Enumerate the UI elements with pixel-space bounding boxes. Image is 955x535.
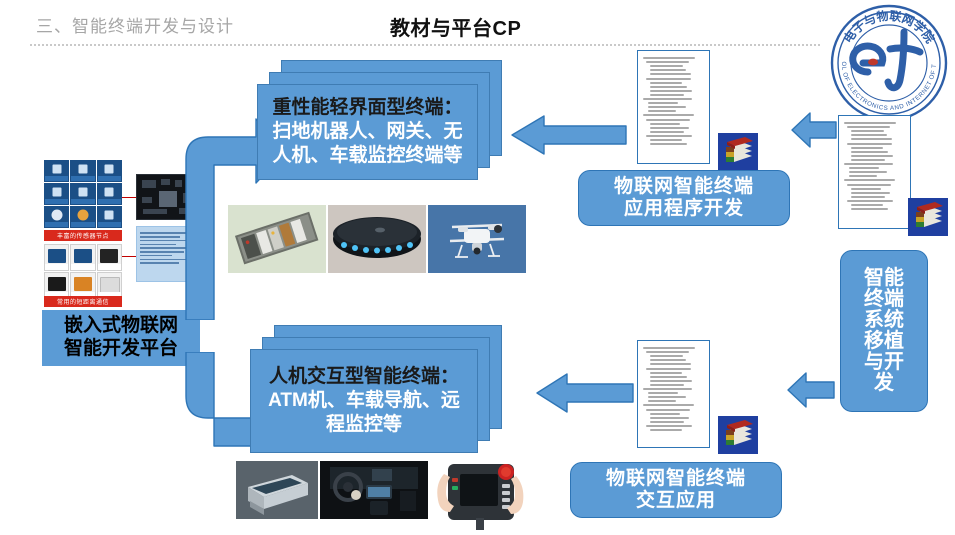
left-arrow-interact-to-bottom-card xyxy=(535,370,635,416)
sensor-tile xyxy=(44,183,69,205)
photo-car-navigation xyxy=(320,461,428,519)
document-toc-interaction xyxy=(637,340,710,448)
module-tile xyxy=(44,272,69,299)
card-body-line-1: ATM机、车载导航、远 xyxy=(268,389,460,413)
card-body-line-2: 人机、车载监控终端等 xyxy=(272,144,462,168)
photo-quadcopter-drone xyxy=(428,205,526,273)
card-body-line-1: 扫地机器人、网关、无 xyxy=(272,120,462,144)
comm-module-grid xyxy=(44,244,122,299)
module-tile xyxy=(44,244,69,271)
books-icon-interaction xyxy=(718,416,758,454)
app-dev-line-1: 物联网智能终端 xyxy=(614,176,754,198)
platform-line-2: 智能开发平台 xyxy=(64,338,178,361)
card-text: 重性能轻界面型终端： 扫地机器人、网关、无 人机、车载监控终端等 xyxy=(257,84,478,180)
embedded-iot-platform-box: 嵌入式物联网 智能开发平台 xyxy=(42,310,200,366)
module-tile xyxy=(70,244,95,271)
page-title: 教材与平台CP xyxy=(390,12,521,41)
card-body-line-2: 程监控等 xyxy=(326,413,402,437)
books-icon-app-dev xyxy=(718,133,758,171)
section-label: 三、智能终端开发与设计 xyxy=(36,12,234,37)
platform-line-1: 嵌入式物联网 xyxy=(64,315,178,338)
card-heavy-performance-terminal: 重性能轻界面型终端： 扫地机器人、网关、无 人机、车载监控终端等 xyxy=(257,60,502,180)
card-human-machine-terminal: 人机交互型智能终端： ATM机、车载导航、远 程监控等 xyxy=(250,325,502,453)
sensor-board-collage: 丰富的传感器节点 常用的短距离通信 xyxy=(44,160,122,305)
collage-caption-sensors: 丰富的传感器节点 xyxy=(44,230,122,241)
photo-atm-kiosk xyxy=(236,461,318,519)
sensor-tile xyxy=(97,183,122,205)
document-toc-app-dev xyxy=(637,50,710,164)
module-tile xyxy=(97,244,122,271)
module-tile xyxy=(70,272,95,299)
left-arrow-portdev-to-appdev xyxy=(790,110,838,150)
slide-canvas: 三、智能终端开发与设计 教材与平台CP 电子与物联网学院 SCHOOL OF E… xyxy=(0,0,955,535)
header-divider xyxy=(30,44,820,46)
card-title: 人机交互型智能终端： xyxy=(269,365,459,389)
sensor-tile xyxy=(70,160,95,182)
sensor-tile xyxy=(97,206,122,228)
sensor-tile xyxy=(70,206,95,228)
school-logo: 电子与物联网学院 SCHOOL OF ELECTRONICS AND INTER… xyxy=(828,2,950,124)
collage-caption-comm: 常用的短距离通信 xyxy=(44,296,122,307)
module-tile xyxy=(97,272,122,299)
logo-english-text: SCHOOL OF ELECTRONICS AND INTERNET OF TH… xyxy=(950,2,951,3)
photo-handheld-teach-pendant xyxy=(430,456,530,530)
left-arrow-appdev-to-top-card xyxy=(510,112,628,158)
interact-app-line-2: 交互应用 xyxy=(606,490,746,512)
card-text: 人机交互型智能终端： ATM机、车载导航、远 程监控等 xyxy=(250,349,478,453)
sensor-node-grid xyxy=(44,160,122,228)
label-terminal-system-porting-development: 智能 终端 系统 移植 与开 发 xyxy=(840,250,928,412)
label-iot-terminal-interaction-app: 物联网智能终端 交互应用 xyxy=(570,462,782,518)
sensor-tile xyxy=(70,183,95,205)
label-iot-terminal-app-development: 物联网智能终端 应用程序开发 xyxy=(578,170,790,226)
document-toc-port-dev xyxy=(838,115,911,229)
photo-robot-vacuum xyxy=(328,205,426,273)
app-dev-line-2: 应用程序开发 xyxy=(614,198,754,220)
interact-app-line-1: 物联网智能终端 xyxy=(606,468,746,490)
books-icon-port-dev xyxy=(908,198,948,236)
port-dev-text: 智能 终端 系统 移植 与开 发 xyxy=(864,268,904,394)
photo-industrial-gateway xyxy=(228,205,326,273)
sensor-tile xyxy=(44,206,69,228)
left-arrow-portdev-to-interact xyxy=(786,370,836,410)
sensor-tile xyxy=(97,160,122,182)
sensor-tile xyxy=(44,160,69,182)
card-title: 重性能轻界面型终端： xyxy=(272,96,462,120)
logo-chinese-text: 电子与物联网学院 xyxy=(950,2,951,3)
